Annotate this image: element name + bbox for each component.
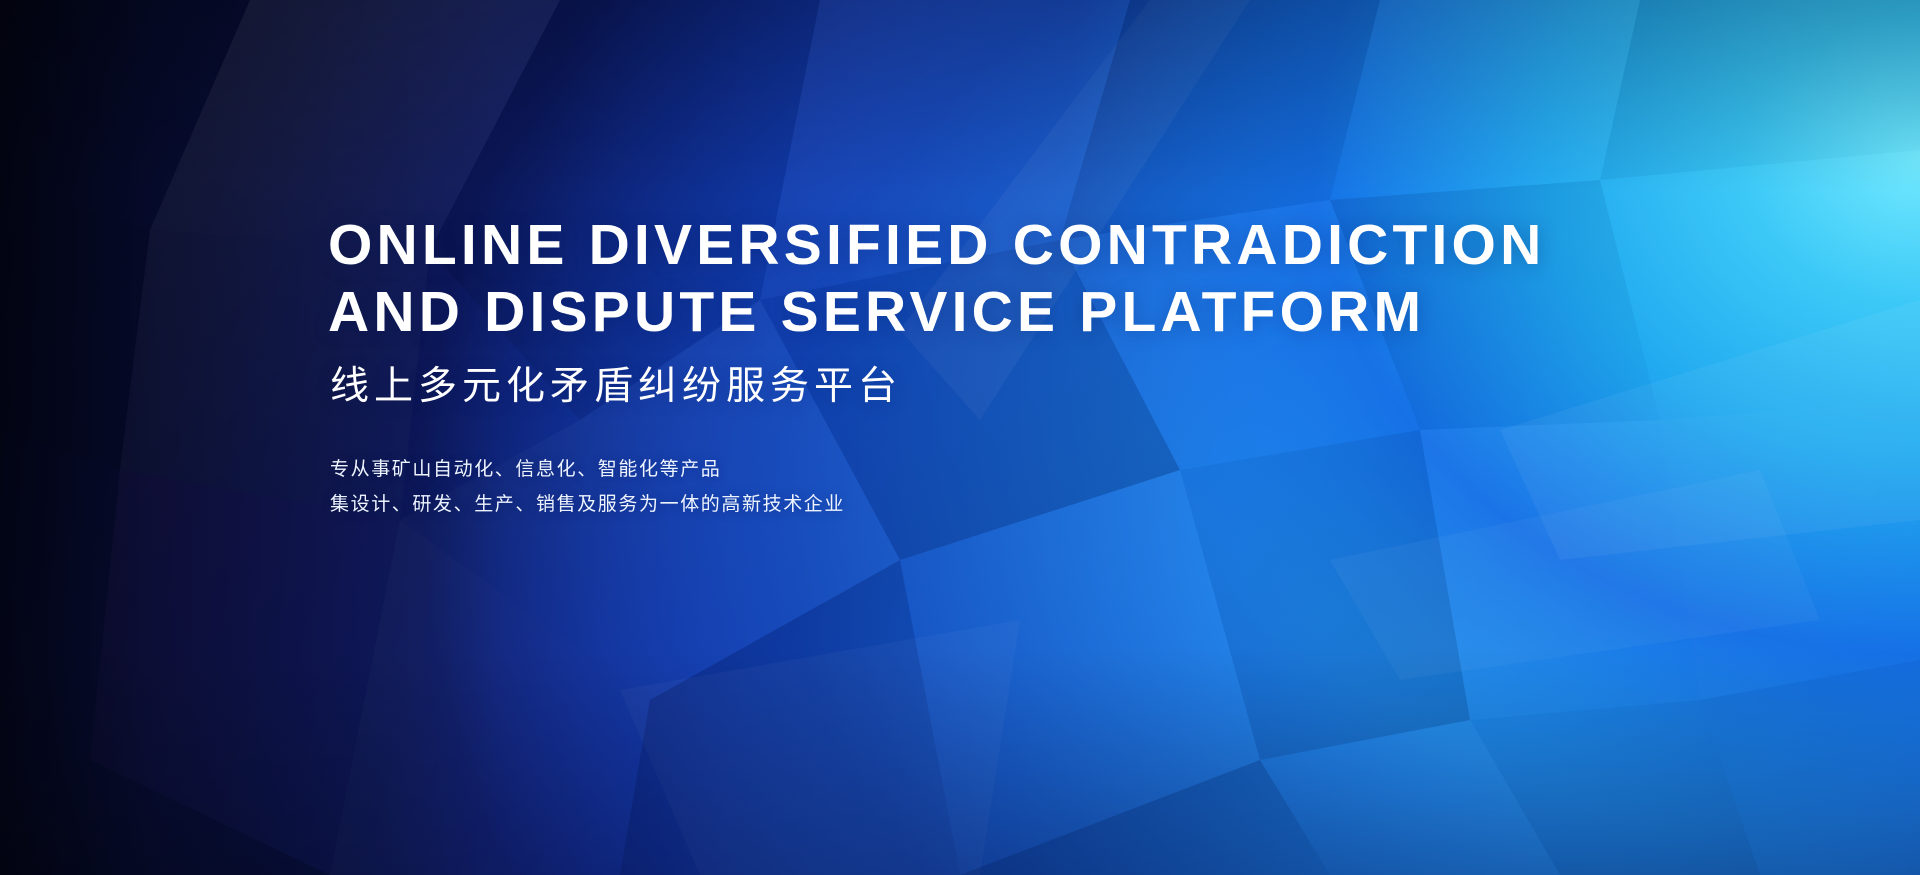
description-line-1: 专从事矿山自动化、信息化、智能化等产品: [330, 452, 845, 487]
headline-line-2: AND DISPUTE SERVICE PLATFORM: [328, 279, 1545, 346]
hero-content: ONLINE DIVERSIFIED CONTRADICTION AND DIS…: [328, 0, 1608, 875]
hero-banner: ONLINE DIVERSIFIED CONTRADICTION AND DIS…: [0, 0, 1920, 875]
hero-headline-english: ONLINE DIVERSIFIED CONTRADICTION AND DIS…: [328, 212, 1545, 346]
headline-line-1: ONLINE DIVERSIFIED CONTRADICTION: [328, 212, 1545, 279]
hero-subtitle-chinese: 线上多元化矛盾纠纷服务平台: [330, 362, 902, 412]
description-line-2: 集设计、研发、生产、销售及服务为一体的高新技术企业: [330, 487, 845, 522]
hero-description: 专从事矿山自动化、信息化、智能化等产品 集设计、研发、生产、销售及服务为一体的高…: [330, 452, 845, 522]
